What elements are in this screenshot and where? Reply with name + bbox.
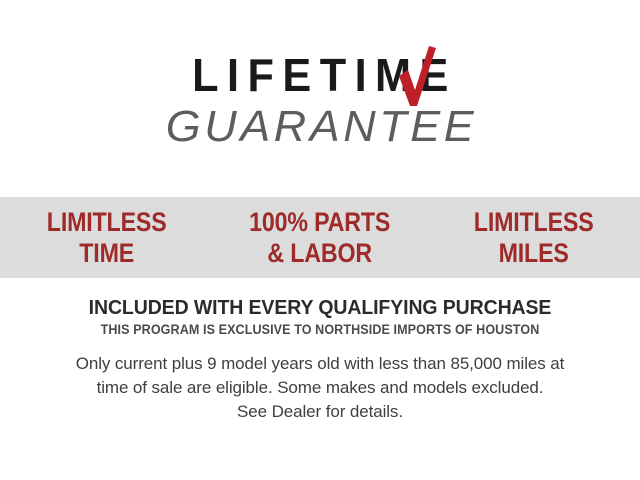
logo-block: LIFETIME GUARANTEE — [0, 52, 640, 149]
feature-column-line2: TIME — [15, 238, 198, 268]
lifetime-guarantee-poster: LIFETIME GUARANTEE LIMITLESS TIME 100% P… — [0, 0, 640, 480]
logo-lifetime-text: LIFETIME — [183, 52, 456, 98]
logo-lifetime-wrap: LIFETIME — [175, 52, 466, 98]
feature-column-limitless-time: LIMITLESS TIME — [15, 207, 198, 267]
feature-bar: LIMITLESS TIME 100% PARTS & LABOR LIMITL… — [0, 197, 640, 278]
fineprint-line-2: time of sale are eligible. Some makes an… — [32, 376, 608, 400]
feature-column-line2: MILES — [442, 238, 625, 268]
fineprint-line-1: Only current plus 9 model years old with… — [32, 352, 608, 376]
feature-column-line1: 100% PARTS — [228, 207, 411, 237]
feature-column-parts-labor: 100% PARTS & LABOR — [228, 207, 411, 267]
feature-column-line2: & LABOR — [228, 238, 411, 268]
feature-column-line1: LIMITLESS — [15, 207, 198, 237]
fineprint-line-3: See Dealer for details. — [32, 400, 608, 424]
headline-text: INCLUDED WITH EVERY QUALIFYING PURCHASE — [16, 298, 624, 319]
logo-guarantee-text: GUARANTEE — [0, 105, 640, 149]
fineprint-block: Only current plus 9 model years old with… — [32, 352, 608, 424]
feature-column-line1: LIMITLESS — [442, 207, 625, 237]
subhead-text: THIS PROGRAM IS EXCLUSIVE TO NORTHSIDE I… — [22, 323, 617, 337]
feature-column-limitless-miles: LIMITLESS MILES — [442, 207, 625, 267]
